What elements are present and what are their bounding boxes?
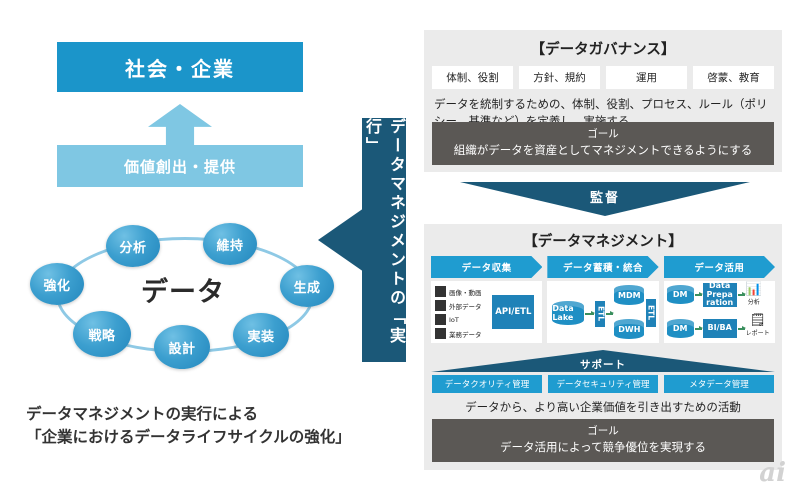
film-icon	[435, 286, 446, 297]
governance-title: 【データガバナンス】	[424, 30, 782, 59]
cycle-node-label: 戦略	[88, 325, 115, 344]
cycle-node-enhance: 強化	[30, 263, 84, 305]
watermark-logo: ai	[759, 458, 786, 488]
goal-caption: ゴール	[432, 424, 774, 439]
sensor-icon	[435, 314, 446, 325]
collection-flow-cell: 画像・動画 外部データ IoT 業務データ API/ETL	[431, 281, 542, 343]
value-creation-box: 価値創出・提供	[57, 145, 303, 187]
cycle-node-strategy: 戦略	[73, 311, 131, 357]
bi-ba-box: BI/BA	[703, 319, 737, 338]
source-item: 外部データ	[435, 300, 482, 311]
source-item: 業務データ	[435, 328, 482, 339]
report-label: レポート	[746, 328, 770, 337]
supervise-label: 監督	[590, 182, 620, 216]
phase-chevron-collection: データ収集	[431, 256, 542, 278]
report-output: 🗒 レポート	[746, 314, 770, 337]
cycle-node-label: 強化	[43, 275, 70, 294]
diagram-canvas: 社会・企業 価値創出・提供 分析 維持 生成 実装 設計 戦略 強化 データ デ…	[0, 0, 800, 500]
value-label: 価値創出・提供	[124, 156, 236, 177]
support-tag-metadata: メタデータ管理	[664, 375, 774, 393]
governance-tag: 啓蒙、教育	[693, 66, 774, 89]
utilization-flow-cell: DM DM Data Prepa ration BI/BA 📊 分析 🗒 レポー…	[664, 281, 775, 343]
support-tag-row: データクオリティ管理 データセキュリティ管理 メタデータ管理	[424, 372, 782, 393]
dm-label: DM	[673, 290, 688, 299]
society-label: 社会・企業	[125, 53, 235, 82]
dwh-label: DWH	[618, 325, 640, 334]
governance-tag: 方針、規約	[519, 66, 600, 89]
management-flow-row: 画像・動画 外部データ IoT 業務データ API/ETL	[424, 278, 782, 343]
building-icon	[435, 300, 446, 311]
source-label: IoT	[449, 316, 459, 324]
dwh-cylinder: DWH	[614, 319, 644, 339]
cycle-node-analysis: 分析	[106, 225, 160, 267]
phase-chevron-utilization: データ活用	[664, 256, 775, 278]
bar-chart-search-icon: 📊	[746, 283, 762, 296]
flow-arrow	[606, 313, 613, 315]
source-item: IoT	[435, 314, 459, 325]
governance-tag: 運用	[606, 66, 687, 89]
cycle-node-implement: 実装	[233, 313, 289, 357]
analysis-label: 分析	[748, 297, 760, 306]
data-governance-panel: 【データガバナンス】 体制、役割 方針、規約 運用 啓蒙、教育 データを統制する…	[424, 30, 782, 172]
cycle-node-label: 維持	[216, 235, 243, 254]
flow-arrow	[695, 328, 702, 330]
data-lake-label: Data Lake	[552, 304, 584, 322]
cycle-node-label: 設計	[168, 338, 195, 357]
source-item: 画像・動画	[435, 286, 482, 297]
cycle-node-design: 設計	[154, 325, 210, 369]
data-management-panel: 【データマネジメント】 データ収集 データ蓄積・統合 データ活用 画像・動画 外…	[424, 224, 782, 470]
cycle-node-maintain: 維持	[203, 223, 257, 265]
flow-arrow	[695, 294, 702, 296]
goal-text: 組織がデータを資産としてマネジメントできるようにする	[432, 142, 774, 159]
mdm-label: MDM	[618, 291, 641, 300]
data-lifecycle-diagram: 分析 維持 生成 実装 設計 戦略 強化 データ	[18, 215, 348, 375]
flow-arrow	[585, 313, 594, 315]
support-tag-security: データセキュリティ管理	[548, 375, 658, 393]
source-label: 外部データ	[449, 301, 482, 311]
goal-caption: ゴール	[432, 127, 774, 142]
flow-arrow	[738, 328, 745, 330]
management-goal-box: ゴール データ活用によって競争優位を実現する	[432, 419, 774, 462]
source-label: 画像・動画	[449, 287, 482, 297]
dm-top-cylinder: DM	[667, 285, 694, 304]
support-arrow: サポート	[431, 350, 775, 372]
management-phase-row: データ収集 データ蓄積・統合 データ活用	[424, 251, 782, 278]
cycle-center-label: データ	[118, 267, 248, 311]
goal-text: データ活用によって競争優位を実現する	[432, 439, 774, 456]
etl-left-box: ETL	[595, 301, 605, 327]
governance-tag: 体制、役割	[432, 66, 513, 89]
caption-line-1: データマネジメントの実行による	[26, 403, 366, 426]
support-label: サポート	[580, 350, 626, 372]
api-etl-box: API/ETL	[492, 295, 534, 329]
support-tag-quality: データクオリティ管理	[432, 375, 542, 393]
flow-arrow	[738, 294, 745, 296]
governance-goal-box: ゴール 組織がデータを資産としてマネジメントできるようにする	[432, 122, 774, 165]
society-enterprise-box: 社会・企業	[57, 42, 303, 92]
cycle-node-label: 分析	[119, 237, 146, 256]
data-preparation-box: Data Prepa ration	[703, 283, 737, 307]
cycle-node-label: 実装	[247, 326, 274, 345]
phase-chevron-storage: データ蓄積・統合	[547, 256, 658, 278]
arrow-up-icon	[148, 104, 212, 148]
supervise-arrow: 監督	[460, 182, 750, 216]
execution-banner-label: データマネジメントの「実行」	[360, 118, 408, 362]
execution-banner: データマネジメントの「実行」	[362, 118, 406, 362]
cycle-node-label: 生成	[293, 277, 320, 296]
mdm-cylinder: MDM	[614, 285, 644, 305]
bottom-caption: データマネジメントの実行による 「企業におけるデータライフサイクルの強化」	[26, 403, 366, 450]
source-label: 業務データ	[449, 329, 482, 339]
analysis-output: 📊 分析	[746, 283, 762, 306]
storage-flow-cell: Data Lake ETL MDM DWH ETL	[547, 281, 658, 343]
dm-bottom-cylinder: DM	[667, 319, 694, 338]
data-lake-cylinder: Data Lake	[552, 301, 584, 325]
dm-label: DM	[673, 324, 688, 333]
caption-line-2: 「企業におけるデータライフサイクルの強化」	[26, 426, 366, 449]
governance-tag-row: 体制、役割 方針、規約 運用 啓蒙、教育	[424, 59, 782, 89]
cycle-node-generate: 生成	[280, 265, 334, 307]
management-title: 【データマネジメント】	[424, 224, 782, 251]
management-description: データから、より高い企業価値を引き出すための活動	[424, 393, 782, 415]
presentation-icon: 🗒	[749, 314, 766, 327]
document-icon	[435, 328, 446, 339]
etl-right-box: ETL	[646, 299, 656, 327]
